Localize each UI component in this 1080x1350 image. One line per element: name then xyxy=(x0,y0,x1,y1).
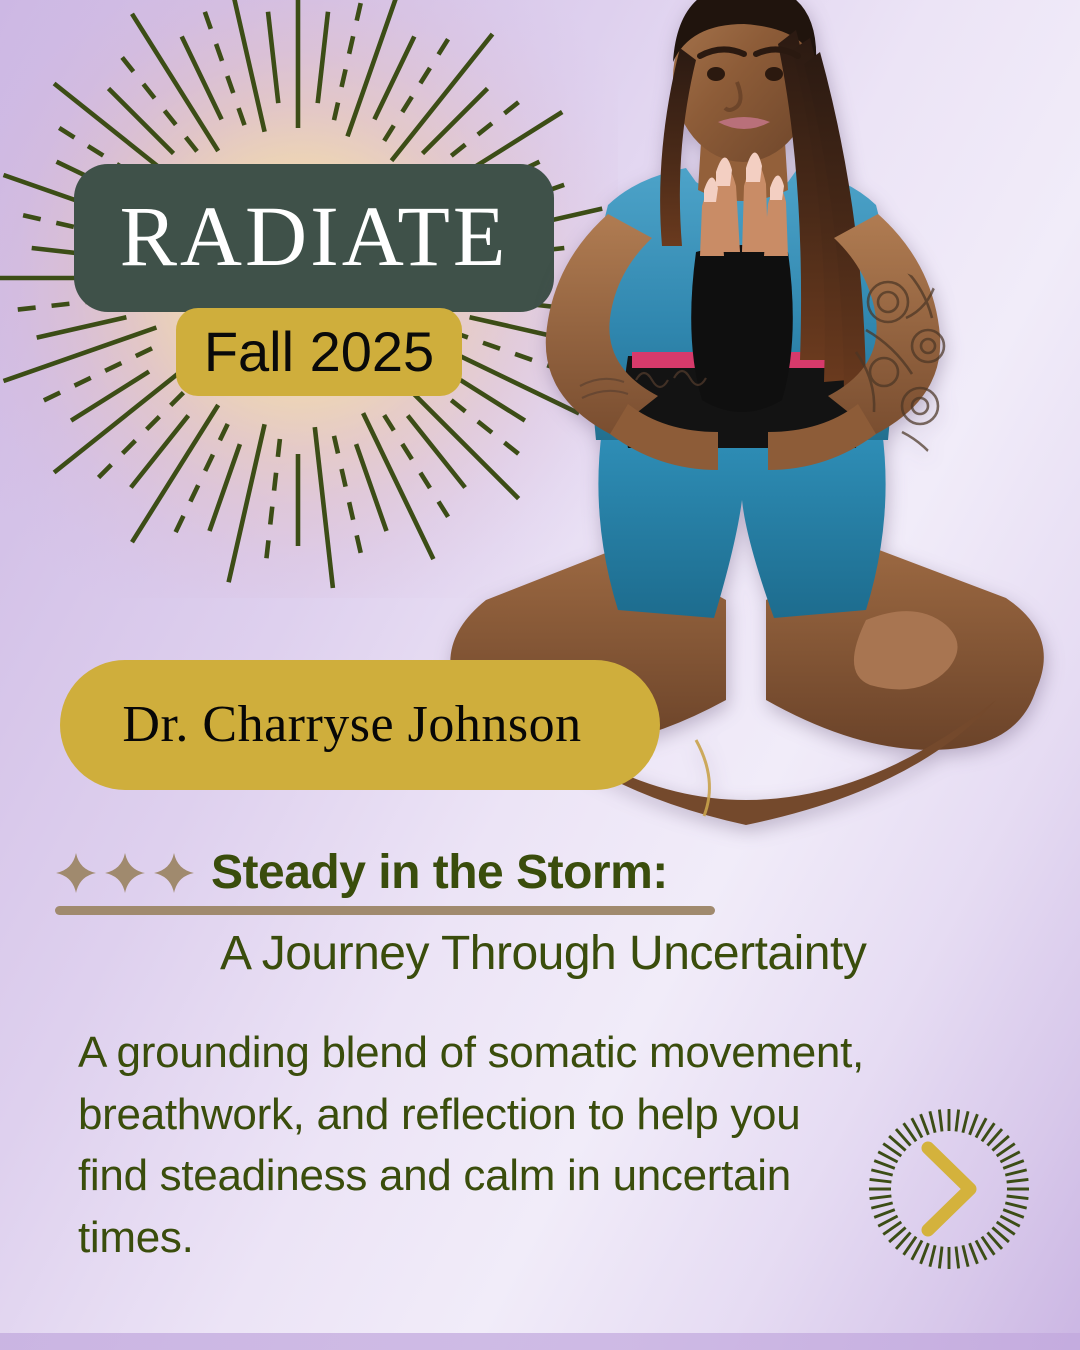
bottom-band xyxy=(0,1333,1080,1350)
next-slide-button[interactable] xyxy=(858,1098,1040,1280)
headline-title: Steady in the Storm: xyxy=(211,848,668,898)
sparkle-icon xyxy=(153,852,195,894)
speaker-name-pill: Dr. Charryse Johnson xyxy=(60,660,660,790)
sparkle-group xyxy=(55,852,195,894)
sparkle-icon xyxy=(55,852,97,894)
chevron-right-icon[interactable] xyxy=(858,1098,1040,1280)
description-text: A grounding blend of somatic movement, b… xyxy=(78,1022,868,1268)
poster-canvas: RADIATE Fall 2025 Dr. Charryse Johnson S… xyxy=(0,0,1080,1350)
headline-divider xyxy=(55,906,715,915)
headline-row: Steady in the Storm: xyxy=(55,848,1015,898)
speaker-name: Dr. Charryse Johnson xyxy=(122,699,581,751)
headline-subtitle: A Journey Through Uncertainty xyxy=(220,929,1015,979)
sparkle-icon xyxy=(104,852,146,894)
headline-block: Steady in the Storm: A Journey Through U… xyxy=(55,848,1015,980)
